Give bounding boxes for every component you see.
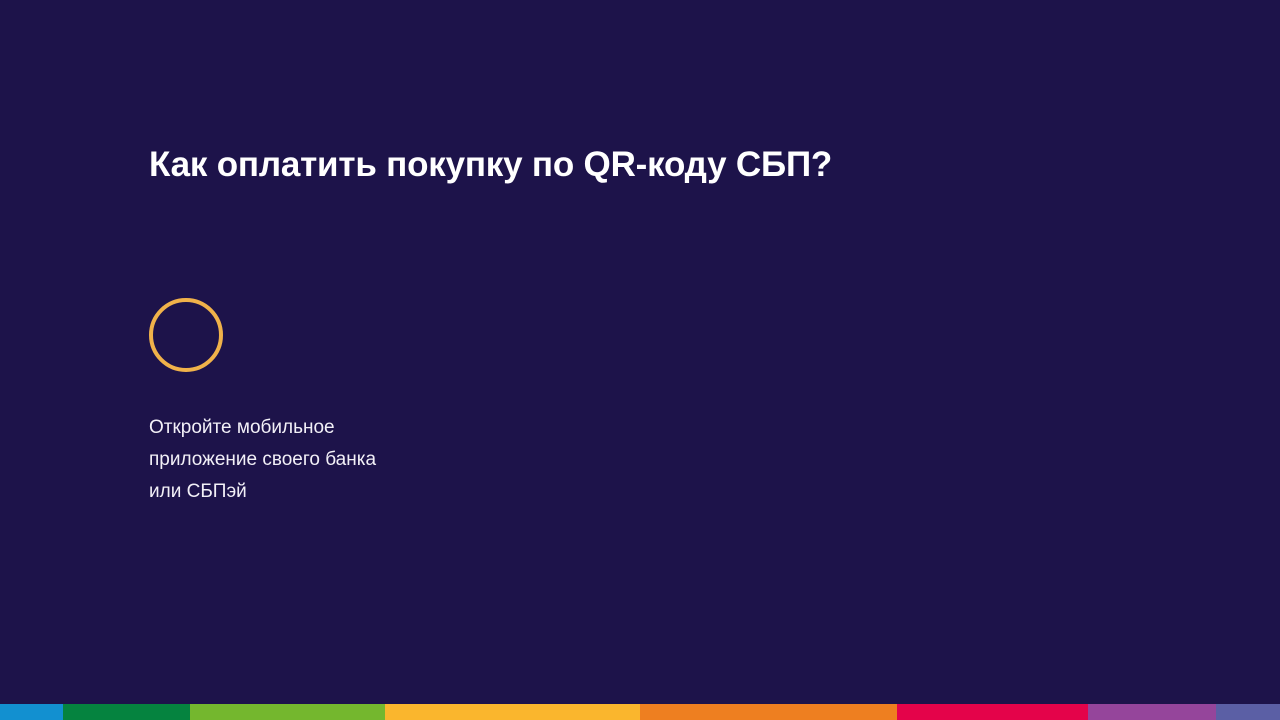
color-bar-segment-orange (640, 704, 897, 720)
color-bar-segment-amber (385, 704, 640, 720)
step-description: Откройте мобильное приложение своего бан… (149, 372, 409, 508)
bottom-color-bar (0, 704, 1280, 720)
page-title: Как оплатить покупку по QR-коду СБП? (149, 143, 832, 187)
color-bar-segment-blue-violet (1216, 704, 1280, 720)
step-marker-circle-icon (149, 298, 223, 372)
color-bar-segment-green (63, 704, 190, 720)
color-bar-segment-blue (0, 704, 63, 720)
color-bar-segment-light-green (190, 704, 385, 720)
step-block: Откройте мобильное приложение своего бан… (149, 298, 449, 508)
step-number-label (153, 302, 219, 368)
color-bar-segment-purple (1088, 704, 1216, 720)
color-bar-segment-crimson (897, 704, 1088, 720)
slide-root: Как оплатить покупку по QR-коду СБП? Отк… (0, 0, 1280, 720)
